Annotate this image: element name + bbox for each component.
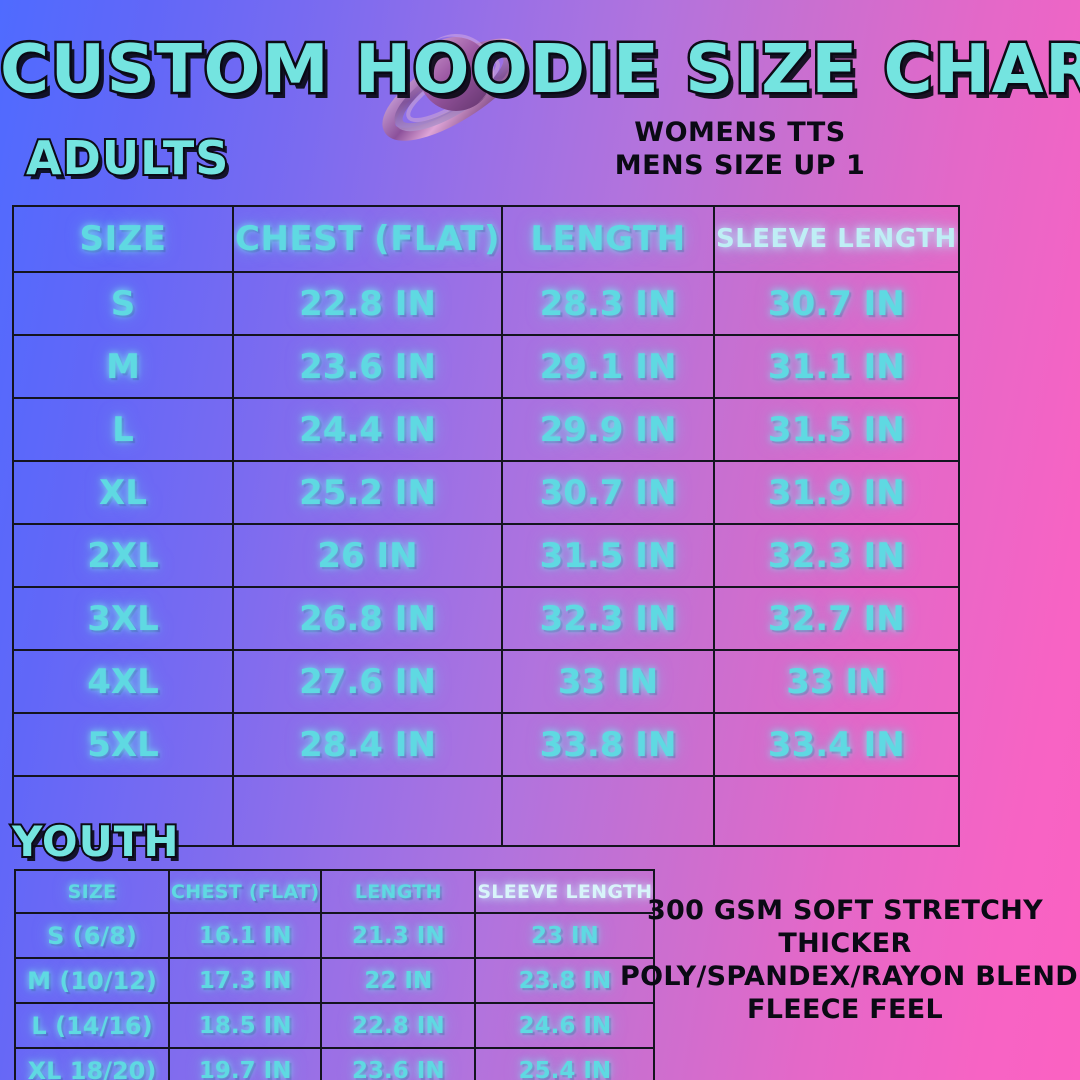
- cell-length: 22.8 IN: [321, 1003, 475, 1048]
- column-header-size: SIZE: [13, 206, 233, 272]
- cell-size: 4XL: [13, 650, 233, 713]
- fabric-note-line-2: THICKER: [620, 928, 1070, 961]
- cell-chest: 18.5 IN: [169, 1003, 321, 1048]
- cell-length: 29.9 IN: [502, 398, 714, 461]
- cell-size: 2XL: [13, 524, 233, 587]
- fit-note: WOMENS TTS MENS SIZE UP 1: [530, 117, 950, 183]
- cell-length: 32.3 IN: [502, 587, 714, 650]
- cell-length: 28.3 IN: [502, 272, 714, 335]
- cell-chest: 27.6 IN: [233, 650, 502, 713]
- cell-size: 5XL: [13, 713, 233, 776]
- fabric-note: 300 GSM SOFT STRETCHY THICKER POLY/SPAND…: [620, 895, 1070, 1027]
- fit-note-line-1: WOMENS TTS: [530, 117, 950, 150]
- cell-chest: 23.6 IN: [233, 335, 502, 398]
- cell-chest: 25.2 IN: [233, 461, 502, 524]
- cell-length: 33.8 IN: [502, 713, 714, 776]
- cell-chest: 17.3 IN: [169, 958, 321, 1003]
- table-row: L 24.4 IN 29.9 IN 31.5 IN: [13, 398, 959, 461]
- cell-size: L: [13, 398, 233, 461]
- table-row: 3XL 26.8 IN 32.3 IN 32.7 IN: [13, 587, 959, 650]
- cell-length: 23.6 IN: [321, 1048, 475, 1080]
- cell-size: S (6/8): [15, 913, 169, 958]
- size-chart-poster: CUSTOM HOODIE SIZE CHART ADULTS WOMENS T…: [0, 0, 1080, 1080]
- adults-section-heading: ADULTS: [26, 131, 229, 185]
- table-row: 5XL 28.4 IN 33.8 IN 33.4 IN: [13, 713, 959, 776]
- cell-chest: 16.1 IN: [169, 913, 321, 958]
- table-row: 4XL 27.6 IN 33 IN 33 IN: [13, 650, 959, 713]
- cell-sleeve: 30.7 IN: [714, 272, 959, 335]
- table-row: S 22.8 IN 28.3 IN 30.7 IN: [13, 272, 959, 335]
- cell-size: 3XL: [13, 587, 233, 650]
- table-row: 2XL 26 IN 31.5 IN 32.3 IN: [13, 524, 959, 587]
- cell-length: 33 IN: [502, 650, 714, 713]
- column-header-size: SIZE: [15, 870, 169, 913]
- table-row: S (6/8) 16.1 IN 21.3 IN 23 IN: [15, 913, 654, 958]
- cell-chest: 26.8 IN: [233, 587, 502, 650]
- cell-chest: 19.7 IN: [169, 1048, 321, 1080]
- cell-sleeve: 33 IN: [714, 650, 959, 713]
- cell-sleeve: [714, 776, 959, 846]
- table-header-row: SIZE CHEST (FLAT) LENGTH SLEEVE LENGTH: [15, 870, 654, 913]
- youth-size-table: SIZE CHEST (FLAT) LENGTH SLEEVE LENGTH S…: [14, 869, 655, 1080]
- cell-size: M (10/12): [15, 958, 169, 1003]
- column-header-chest: CHEST (FLAT): [169, 870, 321, 913]
- table-row: M 23.6 IN 29.1 IN 31.1 IN: [13, 335, 959, 398]
- fabric-note-line-1: 300 GSM SOFT STRETCHY: [620, 895, 1070, 928]
- cell-chest: 26 IN: [233, 524, 502, 587]
- cell-length: 30.7 IN: [502, 461, 714, 524]
- column-header-chest: CHEST (FLAT): [233, 206, 502, 272]
- column-header-length: LENGTH: [502, 206, 714, 272]
- cell-length: [502, 776, 714, 846]
- column-header-length: LENGTH: [321, 870, 475, 913]
- cell-length: 22 IN: [321, 958, 475, 1003]
- page-title: CUSTOM HOODIE SIZE CHART: [0, 30, 1080, 108]
- cell-chest: 22.8 IN: [233, 272, 502, 335]
- table-header-row: SIZE CHEST (FLAT) LENGTH SLEEVE LENGTH: [13, 206, 959, 272]
- cell-length: 21.3 IN: [321, 913, 475, 958]
- cell-chest: 28.4 IN: [233, 713, 502, 776]
- adults-size-table: SIZE CHEST (FLAT) LENGTH SLEEVE LENGTH S…: [12, 205, 960, 847]
- column-header-sleeve-length: SLEEVE LENGTH: [714, 206, 959, 272]
- cell-sleeve: 31.1 IN: [714, 335, 959, 398]
- cell-sleeve: 33.4 IN: [714, 713, 959, 776]
- cell-sleeve: 32.7 IN: [714, 587, 959, 650]
- cell-size: L (14/16): [15, 1003, 169, 1048]
- table-row: M (10/12) 17.3 IN 22 IN 23.8 IN: [15, 958, 654, 1003]
- fit-note-line-2: MENS SIZE UP 1: [530, 150, 950, 183]
- cell-size: XL 18/20): [15, 1048, 169, 1080]
- fabric-note-line-3: POLY/SPANDEX/RAYON BLEND: [620, 961, 1070, 994]
- table-row: XL 25.2 IN 30.7 IN 31.9 IN: [13, 461, 959, 524]
- table-row: L (14/16) 18.5 IN 22.8 IN 24.6 IN: [15, 1003, 654, 1048]
- cell-sleeve: 31.9 IN: [714, 461, 959, 524]
- cell-size: S: [13, 272, 233, 335]
- table-row: XL 18/20) 19.7 IN 23.6 IN 25.4 IN: [15, 1048, 654, 1080]
- cell-size: XL: [13, 461, 233, 524]
- fabric-note-line-4: FLEECE FEEL: [620, 994, 1070, 1027]
- cell-sleeve: 25.4 IN: [475, 1048, 654, 1080]
- youth-section-heading: YOUTH: [12, 817, 180, 866]
- cell-chest: [233, 776, 502, 846]
- cell-size: M: [13, 335, 233, 398]
- cell-length: 31.5 IN: [502, 524, 714, 587]
- cell-length: 29.1 IN: [502, 335, 714, 398]
- cell-chest: 24.4 IN: [233, 398, 502, 461]
- cell-sleeve: 31.5 IN: [714, 398, 959, 461]
- cell-sleeve: 32.3 IN: [714, 524, 959, 587]
